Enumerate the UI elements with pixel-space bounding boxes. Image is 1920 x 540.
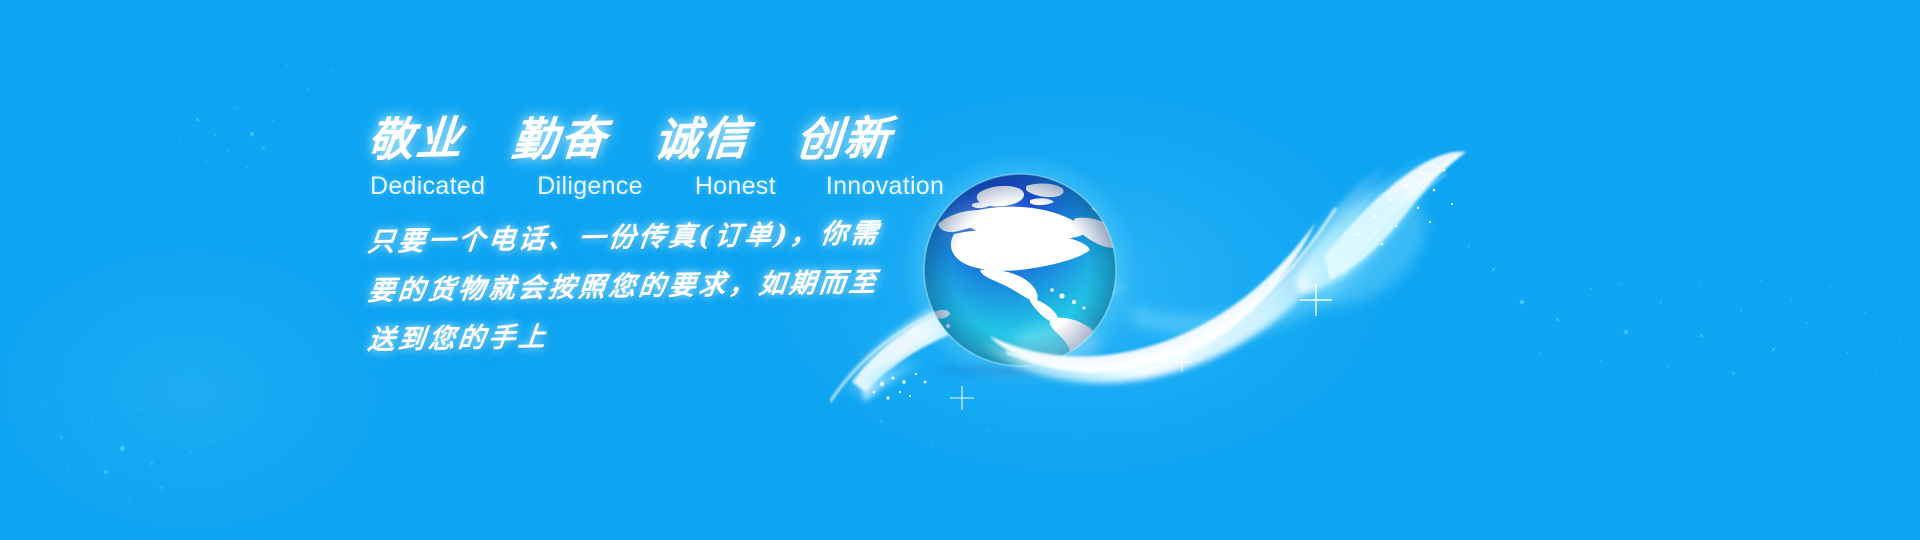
subtitle-word-3: Honest — [695, 174, 776, 199]
particle-dot — [1700, 334, 1703, 337]
particle-dot — [66, 466, 68, 468]
particle-dot — [128, 498, 130, 500]
particle-dot — [1660, 302, 1662, 304]
particle-dot — [228, 150, 230, 152]
particle-dot — [1864, 312, 1866, 314]
headline-word-2: 勤奋 — [510, 115, 610, 163]
particle-dot — [1624, 330, 1628, 334]
particle-dot — [1600, 360, 1602, 362]
particle-dot — [196, 118, 199, 121]
particle-dot — [930, 444, 932, 446]
particle-dot — [60, 436, 63, 439]
subtitle-word-1: Dedicated — [370, 174, 485, 199]
particle-dot — [1668, 366, 1670, 368]
particle-dot — [236, 108, 238, 110]
particle-dot — [1876, 372, 1878, 374]
particle-dot — [1590, 288, 1592, 290]
globe-artwork — [830, 130, 1590, 430]
particle-dot — [986, 430, 988, 432]
headline-word-1: 敬业 — [366, 115, 466, 163]
particle-dot — [104, 470, 108, 474]
particle-dot — [180, 140, 182, 142]
particle-dot — [205, 160, 207, 162]
particle-dot — [272, 120, 274, 122]
particle-dot — [262, 146, 265, 149]
particle-dot — [306, 88, 308, 90]
particle-dot — [92, 420, 94, 422]
particle-dot — [1830, 286, 1832, 288]
particle-dot — [1806, 322, 1808, 324]
particle-dot — [332, 70, 334, 72]
particle-dot — [44, 404, 46, 406]
particle-dot — [150, 462, 153, 465]
particle-dot — [214, 134, 216, 136]
subtitle-word-2: Diligence — [537, 174, 643, 199]
particle-dot — [1846, 352, 1848, 354]
particle-dot — [1700, 282, 1702, 284]
particle-dot — [1732, 372, 1735, 375]
particle-dot — [82, 492, 84, 494]
particle-dot — [138, 408, 140, 410]
particle-dot — [1790, 300, 1792, 302]
particle-dot — [160, 486, 163, 489]
particle-dot — [1760, 280, 1762, 282]
particle-dot — [286, 64, 288, 66]
particle-dot — [1740, 310, 1742, 312]
particle-dot — [1620, 282, 1622, 284]
promo-banner: 敬业 勤奋 诚信 创新 Dedicated Diligence Honest I… — [0, 0, 1920, 540]
particle-dot — [212, 440, 214, 442]
headline-word-3: 诚信 — [652, 115, 752, 163]
particle-dot — [1900, 340, 1902, 342]
particle-dot — [246, 166, 248, 168]
particle-dot — [250, 132, 254, 136]
particle-dot — [120, 446, 125, 451]
particle-dot — [190, 452, 192, 454]
particle-dot — [1044, 452, 1046, 454]
particle-dot — [175, 430, 177, 432]
particle-dot — [1772, 348, 1775, 351]
